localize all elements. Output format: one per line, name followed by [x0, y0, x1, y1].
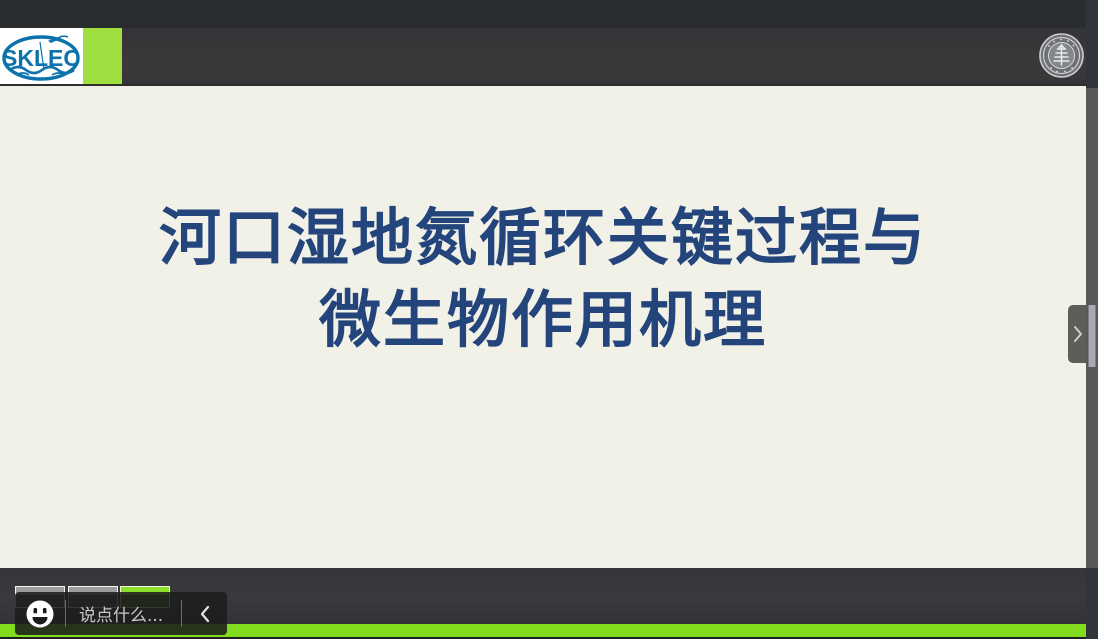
vertical-scrollbar[interactable] — [1086, 0, 1098, 639]
emoji-picker-button[interactable] — [15, 592, 65, 635]
slide-title-line-2: 微生物作用机理 — [0, 280, 1086, 360]
chat-collapse-button[interactable] — [182, 592, 227, 635]
chat-bar: 说点什么... — [15, 592, 227, 635]
scrollbar-top-cap — [1086, 0, 1098, 88]
app-window: SKLEC — [0, 0, 1098, 639]
chevron-right-icon — [1072, 324, 1085, 344]
sklec-logo[interactable]: SKLEC — [0, 28, 83, 84]
top-strip — [0, 0, 1098, 28]
chat-input[interactable]: 说点什么... — [66, 592, 181, 635]
sklec-ellipse-logo: SKLEC — [0, 28, 83, 84]
header-accent-block — [83, 28, 122, 84]
header-bar — [0, 28, 1098, 86]
slide-content-area: 河口湿地氮循环关键过程与 微生物作用机理 — [0, 86, 1086, 568]
scrollbar-bottom-cap — [1086, 568, 1098, 639]
ecnu-university-seal — [1039, 33, 1084, 78]
chevron-left-icon — [198, 604, 212, 624]
university-seal[interactable] — [1039, 33, 1084, 78]
slide-title-line-1: 河口湿地氮循环关键过程与 — [0, 198, 1086, 278]
smiley-face-icon — [25, 599, 55, 629]
scrollbar-thumb[interactable] — [1088, 305, 1096, 367]
slide-title: 河口湿地氮循环关键过程与 微生物作用机理 — [0, 198, 1086, 360]
